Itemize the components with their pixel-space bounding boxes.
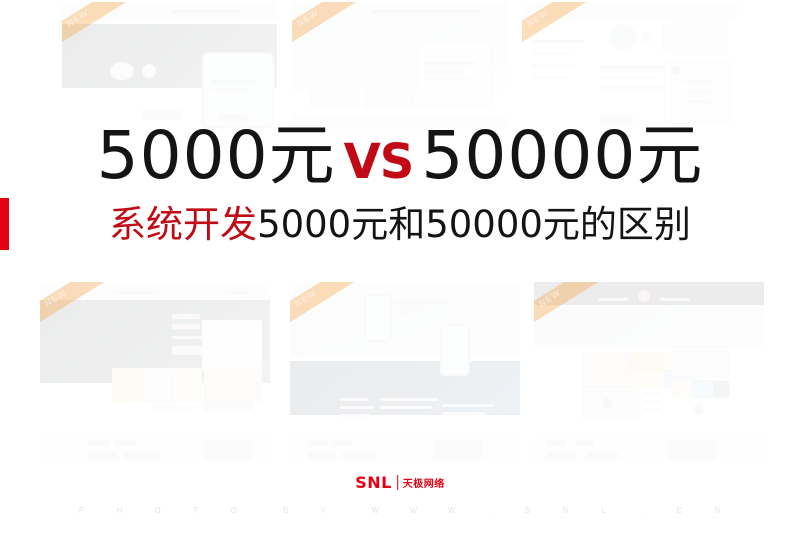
watermark-gap	[343, 506, 357, 515]
watermark-char: O	[215, 506, 253, 515]
watermark-gap	[253, 506, 267, 515]
mockup-top-left: NEW	[62, 2, 277, 130]
subtitle-red-part: 系统开发	[109, 203, 257, 246]
watermark-char: W	[433, 506, 471, 515]
watermark-char: L	[585, 506, 623, 515]
photo-by-watermark: PHOTOBYWWW.SNL.CN	[0, 506, 800, 515]
subtitle-black-part: 5000元和50000元的区别	[257, 203, 691, 246]
background-collage: NEW NEW	[0, 0, 800, 533]
snl-logo: SNL 天极网络	[355, 473, 445, 492]
snl-logo-chinese: 天极网络	[403, 475, 445, 490]
watermark-char: N	[699, 506, 737, 515]
watermark-char: .	[471, 506, 509, 515]
watermark-char: C	[661, 506, 699, 515]
watermark-char: .	[623, 506, 661, 515]
watermark-char: W	[395, 506, 433, 515]
headline-vs: VS	[336, 134, 422, 190]
watermark-char: Y	[305, 506, 343, 515]
mockup-bottom-center: NEW	[290, 282, 520, 462]
headline-block: 5000元VS50000元 系统开发5000元和50000元的区别	[0, 118, 800, 248]
poster-canvas: NEW NEW	[0, 0, 800, 533]
watermark-char: S	[509, 506, 547, 515]
mockup-bottom-left: NEW	[40, 282, 270, 462]
watermark-char: W	[357, 506, 395, 515]
headline-secondary: 系统开发5000元和50000元的区别	[0, 202, 800, 248]
headline-amount-high: 50000元	[421, 117, 703, 194]
mockup-top-center: NEW	[292, 2, 507, 130]
headline-amount-low: 5000元	[97, 117, 336, 194]
snl-logo-mark: SNL	[355, 473, 392, 492]
mockup-top-right: NEW	[522, 2, 737, 130]
watermark-char: B	[267, 506, 305, 515]
headline-primary: 5000元VS50000元	[0, 118, 800, 200]
watermark-char: N	[547, 506, 585, 515]
watermark-char: O	[139, 506, 177, 515]
watermark-char: T	[177, 506, 215, 515]
mockup-bottom-right: NEW	[534, 282, 764, 462]
snl-logo-divider	[397, 475, 398, 490]
watermark-strip: SNL 天极网络 PHOTOBYWWW.SNL.CN	[0, 461, 800, 533]
watermark-char: H	[101, 506, 139, 515]
watermark-char: P	[63, 506, 101, 515]
